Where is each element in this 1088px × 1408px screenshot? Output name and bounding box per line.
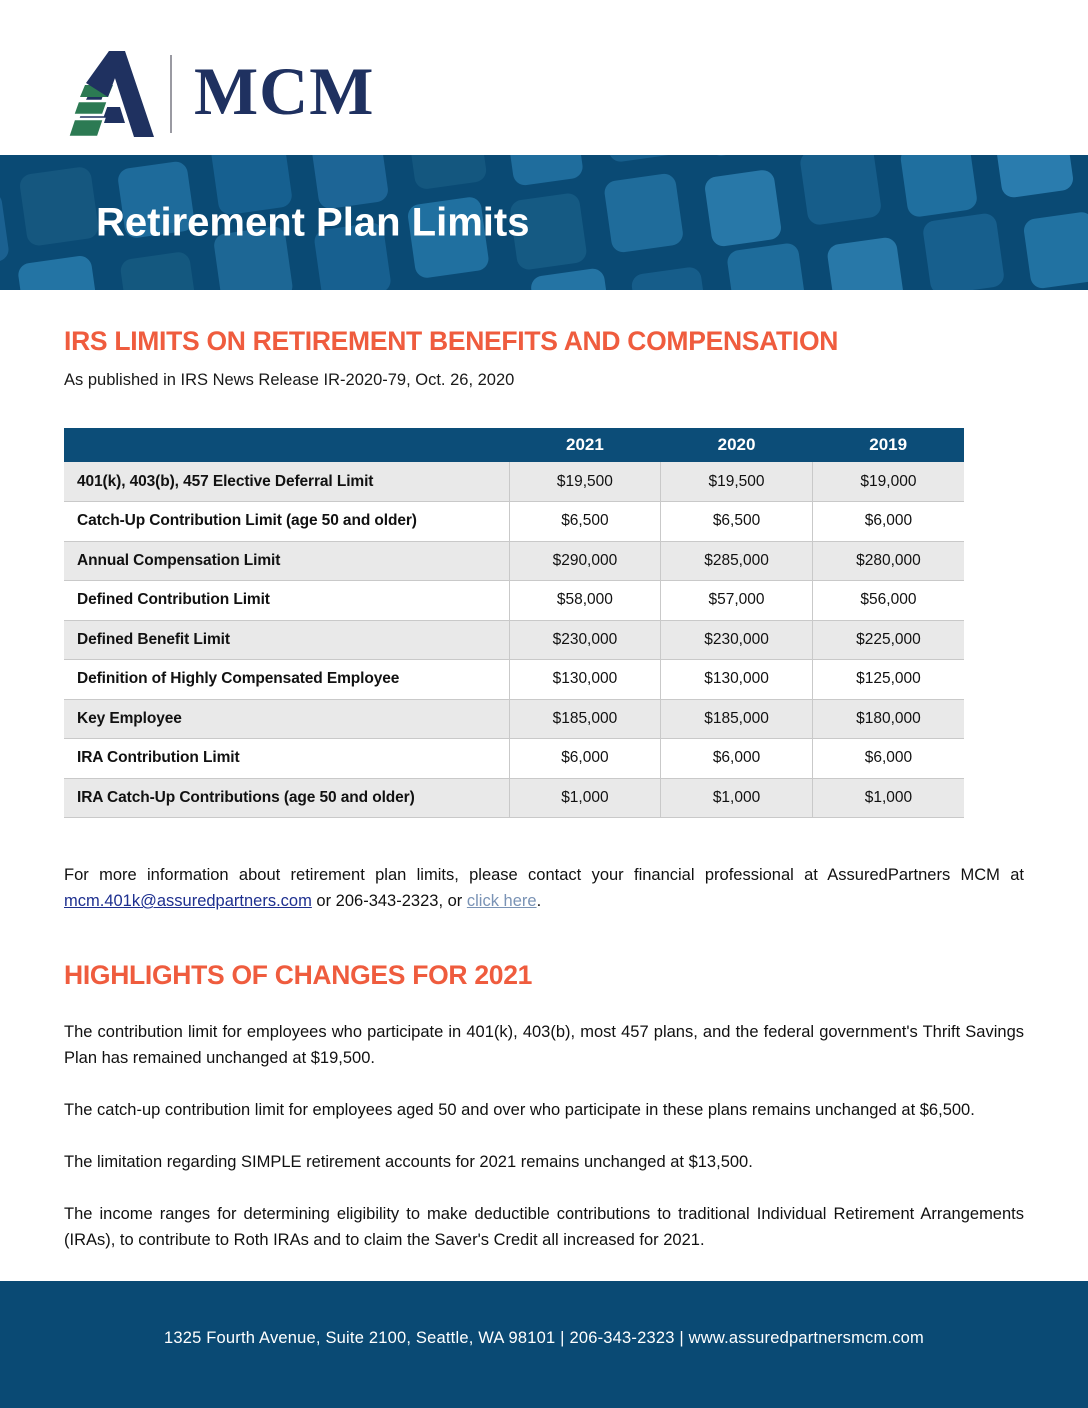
- contact-middle-text: or 206-343-2323, or: [312, 892, 467, 910]
- row-value-2021: $230,000: [509, 620, 661, 660]
- table-row: IRA Catch-Up Contributions (age 50 and o…: [64, 778, 964, 818]
- table-body: 401(k), 403(b), 457 Elective Deferral Li…: [64, 462, 964, 818]
- row-label: IRA Catch-Up Contributions (age 50 and o…: [64, 778, 509, 818]
- table-header-row: 2021 2020 2019: [64, 428, 964, 462]
- highlights-paragraph: The catch-up contribution limit for empl…: [64, 1097, 1024, 1123]
- table-row: Annual Compensation Limit $290,000 $285,…: [64, 541, 964, 581]
- row-label: 401(k), 403(b), 457 Elective Deferral Li…: [64, 462, 509, 502]
- document-header: MCM: [0, 0, 1088, 155]
- row-value-2020: $57,000: [661, 581, 813, 621]
- row-value-2019: $56,000: [812, 581, 964, 621]
- row-value-2019: $125,000: [812, 660, 964, 700]
- row-label: Definition of Highly Compensated Employe…: [64, 660, 509, 700]
- table-col-2019: 2019: [812, 428, 964, 462]
- click-here-link[interactable]: click here: [467, 892, 537, 910]
- table-row: Catch-Up Contribution Limit (age 50 and …: [64, 502, 964, 542]
- row-value-2020: $130,000: [661, 660, 813, 700]
- row-label: Defined Benefit Limit: [64, 620, 509, 660]
- table-row: Key Employee $185,000 $185,000 $180,000: [64, 699, 964, 739]
- row-value-2021: $130,000: [509, 660, 661, 700]
- assuredpartners-a-mark-icon: [68, 49, 154, 139]
- row-label: IRA Contribution Limit: [64, 739, 509, 779]
- contact-email-link[interactable]: mcm.401k@assuredpartners.com: [64, 892, 312, 910]
- logo-divider: [170, 55, 172, 133]
- table-row: Definition of Highly Compensated Employe…: [64, 660, 964, 700]
- row-value-2021: $290,000: [509, 541, 661, 581]
- contact-lead-text: For more information about retirement pl…: [64, 866, 1024, 884]
- row-value-2021: $58,000: [509, 581, 661, 621]
- highlights-heading: HIGHLIGHTS OF CHANGES FOR 2021: [64, 960, 1024, 991]
- table-col-blank: [64, 428, 509, 462]
- page-title: Retirement Plan Limits: [96, 200, 529, 245]
- table-row: Defined Benefit Limit $230,000 $230,000 …: [64, 620, 964, 660]
- row-value-2020: $230,000: [661, 620, 813, 660]
- retirement-limits-table: 2021 2020 2019 401(k), 403(b), 457 Elect…: [64, 428, 964, 818]
- row-value-2020: $6,000: [661, 739, 813, 779]
- contact-paragraph: For more information about retirement pl…: [64, 862, 1024, 914]
- highlights-paragraph: The income ranges for determining eligib…: [64, 1201, 1024, 1253]
- row-value-2020: $6,500: [661, 502, 813, 542]
- table-row: Defined Contribution Limit $58,000 $57,0…: [64, 581, 964, 621]
- table-col-2020: 2020: [661, 428, 813, 462]
- table-header: 2021 2020 2019: [64, 428, 964, 462]
- row-value-2019: $280,000: [812, 541, 964, 581]
- table-row: 401(k), 403(b), 457 Elective Deferral Li…: [64, 462, 964, 502]
- row-value-2021: $6,500: [509, 502, 661, 542]
- row-value-2019: $6,000: [812, 739, 964, 779]
- table-col-2021: 2021: [509, 428, 661, 462]
- row-value-2021: $6,000: [509, 739, 661, 779]
- row-value-2021: $1,000: [509, 778, 661, 818]
- contact-end-text: .: [537, 892, 542, 910]
- row-value-2020: $285,000: [661, 541, 813, 581]
- row-value-2019: $6,000: [812, 502, 964, 542]
- row-value-2020: $185,000: [661, 699, 813, 739]
- highlights-paragraph: The limitation regarding SIMPLE retireme…: [64, 1149, 1024, 1175]
- row-label: Catch-Up Contribution Limit (age 50 and …: [64, 502, 509, 542]
- row-value-2020: $1,000: [661, 778, 813, 818]
- row-value-2020: $19,500: [661, 462, 813, 502]
- row-value-2021: $185,000: [509, 699, 661, 739]
- footer-contact-text: 1325 Fourth Avenue, Suite 2100, Seattle,…: [0, 1329, 1088, 1348]
- row-value-2021: $19,500: [509, 462, 661, 502]
- row-value-2019: $225,000: [812, 620, 964, 660]
- page-footer: 1325 Fourth Avenue, Suite 2100, Seattle,…: [0, 1281, 1088, 1408]
- row-label: Annual Compensation Limit: [64, 541, 509, 581]
- page-banner: Retirement Plan Limits: [0, 155, 1088, 290]
- row-label: Key Employee: [64, 699, 509, 739]
- highlights-paragraph: The contribution limit for employees who…: [64, 1019, 1024, 1071]
- irs-limits-subheading: As published in IRS News Release IR-2020…: [64, 371, 1024, 390]
- document-body: IRS LIMITS ON RETIREMENT BENEFITS AND CO…: [0, 326, 1088, 1254]
- brand-name: MCM: [194, 57, 374, 131]
- row-label: Defined Contribution Limit: [64, 581, 509, 621]
- row-value-2019: $1,000: [812, 778, 964, 818]
- row-value-2019: $19,000: [812, 462, 964, 502]
- brand-logo: MCM: [68, 46, 374, 142]
- row-value-2019: $180,000: [812, 699, 964, 739]
- table-row: IRA Contribution Limit $6,000 $6,000 $6,…: [64, 739, 964, 779]
- irs-limits-heading: IRS LIMITS ON RETIREMENT BENEFITS AND CO…: [64, 326, 1024, 357]
